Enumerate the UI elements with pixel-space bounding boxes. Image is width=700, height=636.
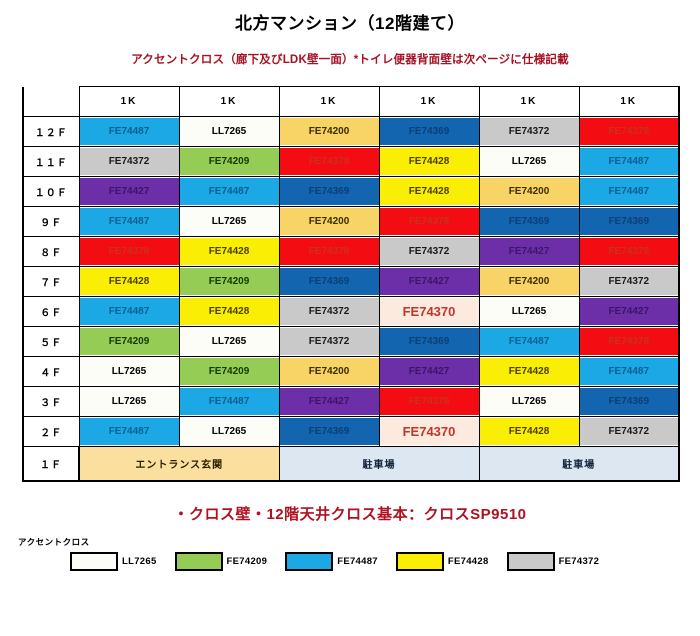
wallpaper-swatch: FE74200: [480, 178, 579, 205]
wallpaper-cell: FE74369: [279, 177, 379, 207]
floor-label: ８Ｆ: [23, 237, 79, 267]
wallpaper-swatch: LL7265: [480, 388, 579, 415]
wallpaper-swatch: FE74370: [380, 298, 479, 325]
wallpaper-swatch: FE74378: [580, 118, 679, 145]
wallpaper-cell: FE74487: [79, 417, 179, 447]
table-row: １１ＦFE74372FE74209FE74378FE74428LL7265FE7…: [23, 147, 679, 177]
floor-label: ７Ｆ: [23, 267, 79, 297]
wallpaper-swatch: FE74487: [180, 178, 279, 205]
wallpaper-swatch: FE74372: [280, 328, 379, 355]
wallpaper-swatch: FE74370: [380, 418, 479, 445]
wallpaper-swatch: FE74372: [580, 418, 679, 445]
wallpaper-cell: FE74428: [379, 177, 479, 207]
wallpaper-cell: FE74487: [179, 387, 279, 417]
wallpaper-swatch: FE74200: [480, 268, 579, 295]
wallpaper-swatch: FE74487: [580, 358, 679, 385]
wallpaper-swatch: FE74369: [280, 268, 379, 295]
wallpaper-code: FE74487: [608, 157, 649, 167]
column-header-unit-2: 1K: [179, 87, 279, 117]
table-row: １２ＦFE74487LL7265FE74200FE74369FE74372FE7…: [23, 117, 679, 147]
wallpaper-code: FE74378: [109, 247, 150, 257]
wallpaper-cell: LL7265: [79, 357, 179, 387]
wallpaper-cell: FE74372: [379, 237, 479, 267]
wallpaper-swatch: FE74428: [480, 418, 579, 445]
wallpaper-swatch: FE74369: [280, 178, 379, 205]
wallpaper-swatch: LL7265: [80, 358, 179, 385]
wallpaper-cell: FE74487: [579, 177, 679, 207]
wallpaper-code: FE74209: [209, 367, 250, 377]
wallpaper-cell: FE74427: [479, 237, 579, 267]
footer-note: ・クロス壁・12階天井クロス基本：クロスSP9510: [0, 482, 700, 524]
wallpaper-code: LL7265: [112, 397, 146, 407]
wallpaper-code: FE74378: [309, 157, 350, 167]
wallpaper-swatch: FE74209: [80, 328, 179, 355]
wallpaper-cell: FE74370: [379, 417, 479, 447]
wallpaper-swatch: FE74428: [380, 178, 479, 205]
wallpaper-swatch: FE74378: [580, 238, 679, 265]
wallpaper-cell: LL7265: [179, 117, 279, 147]
wallpaper-swatch: FE74378: [580, 328, 679, 355]
wallpaper-cell: FE74372: [279, 297, 379, 327]
legend-item: FE74428: [396, 552, 489, 571]
wallpaper-cell: FE74372: [79, 147, 179, 177]
wallpaper-cell: FE74378: [579, 327, 679, 357]
legend-swatch: [396, 552, 444, 571]
wallpaper-code: FE74200: [309, 217, 350, 227]
wallpaper-swatch: FE74428: [80, 268, 179, 295]
corner-blank-cell: [23, 87, 79, 117]
wallpaper-cell: FE74209: [179, 267, 279, 297]
wallpaper-cell: FE74372: [479, 117, 579, 147]
wallpaper-swatch: FE74427: [580, 298, 679, 325]
ground-floor-row: １Ｆエントランス玄関駐車場駐車場: [23, 447, 679, 482]
wallpaper-code: LL7265: [512, 157, 546, 167]
legend-swatch: [70, 552, 118, 571]
wallpaper-swatch: FE74209: [180, 148, 279, 175]
wallpaper-code: FE74200: [509, 277, 550, 287]
wallpaper-cell: FE74428: [179, 297, 279, 327]
wallpaper-code: FE74427: [409, 277, 450, 287]
wallpaper-code: FE74378: [409, 217, 450, 227]
wallpaper-code: FE74372: [309, 307, 350, 317]
legend-label: LL7265: [122, 556, 157, 567]
wallpaper-code: FE74378: [309, 247, 350, 257]
wallpaper-cell: FE74209: [179, 357, 279, 387]
wallpaper-swatch: FE74209: [180, 268, 279, 295]
wallpaper-code: FE74370: [403, 425, 456, 438]
wallpaper-swatch: FE74487: [80, 298, 179, 325]
wallpaper-code: FE74428: [409, 187, 450, 197]
wallpaper-cell: FE74369: [479, 207, 579, 237]
wallpaper-swatch: FE74369: [580, 208, 679, 235]
wallpaper-swatch: FE74200: [280, 358, 379, 385]
legend-title: アクセントクロス: [18, 536, 700, 548]
table-row: ４ＦLL7265FE74209FE74200FE74427FE74428FE74…: [23, 357, 679, 387]
wallpaper-code: FE74369: [309, 187, 350, 197]
wallpaper-cell: FE74200: [479, 177, 579, 207]
wallpaper-code: FE74487: [608, 187, 649, 197]
wallpaper-swatch: FE74427: [480, 238, 579, 265]
floor-label: ５Ｆ: [23, 327, 79, 357]
wallpaper-swatch: LL7265: [480, 148, 579, 175]
wallpaper-swatch: FE74487: [180, 388, 279, 415]
wallpaper-code: FE74370: [403, 305, 456, 318]
wallpaper-cell: FE74200: [279, 117, 379, 147]
wallpaper-code: FE74428: [109, 277, 150, 287]
wallpaper-swatch: FE74487: [80, 418, 179, 445]
wallpaper-cell: FE74369: [579, 207, 679, 237]
wallpaper-cell: LL7265: [179, 327, 279, 357]
wallpaper-code: FE74427: [409, 367, 450, 377]
wallpaper-code: FE74372: [509, 127, 550, 137]
legend-label: FE74372: [559, 556, 600, 567]
wallpaper-code: LL7265: [512, 397, 546, 407]
wallpaper-cell: FE74428: [379, 147, 479, 177]
wallpaper-code: FE74428: [409, 157, 450, 167]
wallpaper-cell: FE74427: [279, 387, 379, 417]
wallpaper-cell: FE74372: [579, 417, 679, 447]
floor-label: １０Ｆ: [23, 177, 79, 207]
wallpaper-cell: LL7265: [179, 417, 279, 447]
wallpaper-swatch: FE74427: [380, 268, 479, 295]
legend-items: LL7265FE74209FE74487FE74428FE74372: [70, 552, 700, 571]
wallpaper-code: FE74209: [109, 337, 150, 347]
wallpaper-cell: FE74487: [579, 357, 679, 387]
wallpaper-code: FE74487: [109, 127, 150, 137]
table-row: ２ＦFE74487LL7265FE74369FE74370FE74428FE74…: [23, 417, 679, 447]
wallpaper-code: FE74428: [209, 307, 250, 317]
wallpaper-code: FE74372: [409, 247, 450, 257]
wallpaper-swatch: FE74372: [380, 238, 479, 265]
wallpaper-swatch: LL7265: [180, 418, 279, 445]
wallpaper-cell: FE74372: [279, 327, 379, 357]
legend-item: FE74487: [285, 552, 378, 571]
wallpaper-code: LL7265: [512, 307, 546, 317]
ground-floor-segment: 駐車場: [279, 447, 479, 482]
table-row: ６ＦFE74487FE74428FE74372FE74370LL7265FE74…: [23, 297, 679, 327]
wallpaper-cell: FE74487: [579, 147, 679, 177]
wallpaper-cell: FE74487: [79, 117, 179, 147]
wallpaper-code: FE74369: [409, 127, 450, 137]
wallpaper-code: FE74209: [209, 157, 250, 167]
wallpaper-cell: LL7265: [179, 207, 279, 237]
wallpaper-swatch: FE74372: [480, 118, 579, 145]
wallpaper-code: FE74427: [608, 307, 649, 317]
wallpaper-cell: FE74428: [479, 417, 579, 447]
wallpaper-swatch: FE74372: [280, 298, 379, 325]
table-head: 1K1K1K1K1K1K: [23, 87, 679, 117]
table-body: １２ＦFE74487LL7265FE74200FE74369FE74372FE7…: [23, 117, 679, 482]
legend-swatch: [507, 552, 555, 571]
wallpaper-swatch: LL7265: [80, 388, 179, 415]
wallpaper-code: LL7265: [212, 427, 246, 437]
table-row: １０ＦFE74427FE74487FE74369FE74428FE74200FE…: [23, 177, 679, 207]
wallpaper-cell: FE74378: [279, 147, 379, 177]
wallpaper-code: FE74487: [608, 367, 649, 377]
wallpaper-code: FE74372: [608, 277, 649, 287]
floor-label: ３Ｆ: [23, 387, 79, 417]
wallpaper-cell: LL7265: [479, 387, 579, 417]
wallpaper-cell: FE74369: [579, 387, 679, 417]
legend-label: FE74209: [227, 556, 268, 567]
wallpaper-swatch: FE74428: [380, 148, 479, 175]
wallpaper-cell: FE74378: [579, 117, 679, 147]
wallpaper-code: FE74378: [608, 247, 649, 257]
wallpaper-swatch: FE74372: [80, 148, 179, 175]
wallpaper-cell: FE74428: [79, 267, 179, 297]
wallpaper-code: FE74428: [509, 367, 550, 377]
wallpaper-cell: LL7265: [479, 147, 579, 177]
wallpaper-code: FE74378: [409, 397, 450, 407]
wallpaper-swatch: FE74369: [380, 328, 479, 355]
wallpaper-code: FE74369: [509, 217, 550, 227]
wallpaper-code: LL7265: [212, 127, 246, 137]
column-header-unit-5: 1K: [479, 87, 579, 117]
wallpaper-swatch: FE74369: [480, 208, 579, 235]
wallpaper-code: FE74369: [309, 277, 350, 287]
page-title: 北方マンション（12階建て）: [0, 0, 700, 34]
wallpaper-swatch: FE74427: [380, 358, 479, 385]
wallpaper-swatch: FE74369: [280, 418, 379, 445]
wallpaper-code: FE74369: [409, 337, 450, 347]
column-header-unit-6: 1K: [579, 87, 679, 117]
wallpaper-cell: FE74209: [79, 327, 179, 357]
wallpaper-cell: FE74200: [279, 357, 379, 387]
wallpaper-cell: FE74428: [179, 237, 279, 267]
wallpaper-swatch: FE74378: [380, 388, 479, 415]
wallpaper-cell: FE74487: [479, 327, 579, 357]
wallpaper-swatch: FE74378: [280, 148, 379, 175]
wallpaper-swatch: FE74428: [480, 358, 579, 385]
floor-label: １１Ｆ: [23, 147, 79, 177]
floor-label: ２Ｆ: [23, 417, 79, 447]
wallpaper-code: FE74369: [608, 217, 649, 227]
wallpaper-swatch: LL7265: [480, 298, 579, 325]
wallpaper-cell: FE74427: [79, 177, 179, 207]
wallpaper-code: FE74487: [209, 187, 250, 197]
wallpaper-code: FE74487: [109, 427, 150, 437]
floor-label: １２Ｆ: [23, 117, 79, 147]
floor-plan-table-wrapper: 1K1K1K1K1K1K １２ＦFE74487LL7265FE74200FE74…: [22, 86, 678, 482]
wallpaper-cell: FE74370: [379, 297, 479, 327]
wallpaper-swatch: FE74378: [80, 238, 179, 265]
wallpaper-cell: FE74378: [279, 237, 379, 267]
wallpaper-swatch: FE74428: [180, 298, 279, 325]
wallpaper-code: LL7265: [212, 337, 246, 347]
wallpaper-swatch: FE74487: [480, 328, 579, 355]
wallpaper-code: LL7265: [212, 217, 246, 227]
legend-label: FE74428: [448, 556, 489, 567]
table-row: ７ＦFE74428FE74209FE74369FE74427FE74200FE7…: [23, 267, 679, 297]
wallpaper-cell: FE74487: [79, 207, 179, 237]
wallpaper-cell: FE74369: [279, 267, 379, 297]
wallpaper-code: FE74369: [608, 397, 649, 407]
floor-label: ６Ｆ: [23, 297, 79, 327]
floor-label: １Ｆ: [23, 447, 79, 482]
wallpaper-swatch: FE74369: [380, 118, 479, 145]
table-row: ５ＦFE74209LL7265FE74372FE74369FE74487FE74…: [23, 327, 679, 357]
wallpaper-code: FE74428: [509, 427, 550, 437]
column-header-unit-3: 1K: [279, 87, 379, 117]
wallpaper-code: FE74427: [509, 247, 550, 257]
wallpaper-cell: FE74427: [579, 297, 679, 327]
subtitle-note: アクセントクロス（廊下及びLDK壁一面）*トイレ便器背面壁は次ページに仕様記載: [0, 34, 700, 67]
wallpaper-code: FE74209: [209, 277, 250, 287]
wallpaper-code: FE74200: [309, 127, 350, 137]
legend-swatch: [175, 552, 223, 571]
wallpaper-swatch: FE74209: [180, 358, 279, 385]
wallpaper-swatch: FE74487: [580, 148, 679, 175]
wallpaper-cell: FE74487: [179, 177, 279, 207]
wallpaper-code: FE74372: [608, 427, 649, 437]
wallpaper-swatch: FE74378: [380, 208, 479, 235]
wallpaper-cell: FE74427: [379, 267, 479, 297]
wallpaper-code: LL7265: [112, 367, 146, 377]
wallpaper-code: FE74487: [209, 397, 250, 407]
wallpaper-cell: FE74200: [279, 207, 379, 237]
wallpaper-cell: FE74378: [79, 237, 179, 267]
floor-label: ４Ｆ: [23, 357, 79, 387]
wallpaper-cell: FE74378: [579, 237, 679, 267]
wallpaper-swatch: LL7265: [180, 328, 279, 355]
floor-label: ９Ｆ: [23, 207, 79, 237]
wallpaper-cell: LL7265: [479, 297, 579, 327]
wallpaper-cell: FE74369: [379, 327, 479, 357]
wallpaper-code: FE74487: [109, 307, 150, 317]
wallpaper-swatch: FE74378: [280, 238, 379, 265]
wallpaper-swatch: FE74372: [580, 268, 679, 295]
wallpaper-cell: FE74428: [479, 357, 579, 387]
wallpaper-code: FE74200: [309, 367, 350, 377]
wallpaper-cell: FE74487: [79, 297, 179, 327]
column-header-unit-4: 1K: [379, 87, 479, 117]
wallpaper-code: FE74200: [509, 187, 550, 197]
wallpaper-code: FE74487: [109, 217, 150, 227]
wallpaper-swatch: FE74487: [80, 118, 179, 145]
wallpaper-code: FE74378: [608, 127, 649, 137]
wallpaper-code: FE74487: [509, 337, 550, 347]
table-row: ３ＦLL7265FE74487FE74427FE74378LL7265FE743…: [23, 387, 679, 417]
wallpaper-cell: FE74378: [379, 207, 479, 237]
wallpaper-swatch: FE74200: [280, 208, 379, 235]
column-header-unit-1: 1K: [79, 87, 179, 117]
wallpaper-swatch: FE74487: [80, 208, 179, 235]
legend-item: LL7265: [70, 552, 157, 571]
wallpaper-code: FE74378: [608, 337, 649, 347]
wallpaper-cell: FE74378: [379, 387, 479, 417]
wallpaper-cell: LL7265: [79, 387, 179, 417]
wallpaper-code: FE74427: [309, 397, 350, 407]
legend-label: FE74487: [337, 556, 378, 567]
wallpaper-swatch: LL7265: [180, 208, 279, 235]
wallpaper-swatch: LL7265: [180, 118, 279, 145]
legend-swatch: [285, 552, 333, 571]
wallpaper-swatch: FE74427: [280, 388, 379, 415]
wallpaper-code: FE74372: [309, 337, 350, 347]
floor-plan-table: 1K1K1K1K1K1K １２ＦFE74487LL7265FE74200FE74…: [22, 86, 680, 482]
ground-floor-segment: エントランス玄関: [79, 447, 279, 482]
wallpaper-code: FE74428: [209, 247, 250, 257]
wallpaper-code: FE74369: [309, 427, 350, 437]
legend-item: FE74372: [507, 552, 600, 571]
wallpaper-cell: FE74427: [379, 357, 479, 387]
legend-item: FE74209: [175, 552, 268, 571]
wallpaper-swatch: FE74427: [80, 178, 179, 205]
table-header-row: 1K1K1K1K1K1K: [23, 87, 679, 117]
wallpaper-swatch: FE74487: [580, 178, 679, 205]
wallpaper-cell: FE74372: [579, 267, 679, 297]
legend: アクセントクロス LL7265FE74209FE74487FE74428FE74…: [18, 536, 700, 571]
wallpaper-swatch: FE74369: [580, 388, 679, 415]
wallpaper-swatch: FE74200: [280, 118, 379, 145]
wallpaper-cell: FE74209: [179, 147, 279, 177]
table-row: ８ＦFE74378FE74428FE74378FE74372FE74427FE7…: [23, 237, 679, 267]
wallpaper-cell: FE74369: [279, 417, 379, 447]
ground-floor-segment: 駐車場: [479, 447, 679, 482]
wallpaper-swatch: FE74428: [180, 238, 279, 265]
wallpaper-code: FE74427: [109, 187, 150, 197]
wallpaper-code: FE74372: [109, 157, 150, 167]
wallpaper-cell: FE74200: [479, 267, 579, 297]
wallpaper-cell: FE74369: [379, 117, 479, 147]
table-row: ９ＦFE74487LL7265FE74200FE74378FE74369FE74…: [23, 207, 679, 237]
